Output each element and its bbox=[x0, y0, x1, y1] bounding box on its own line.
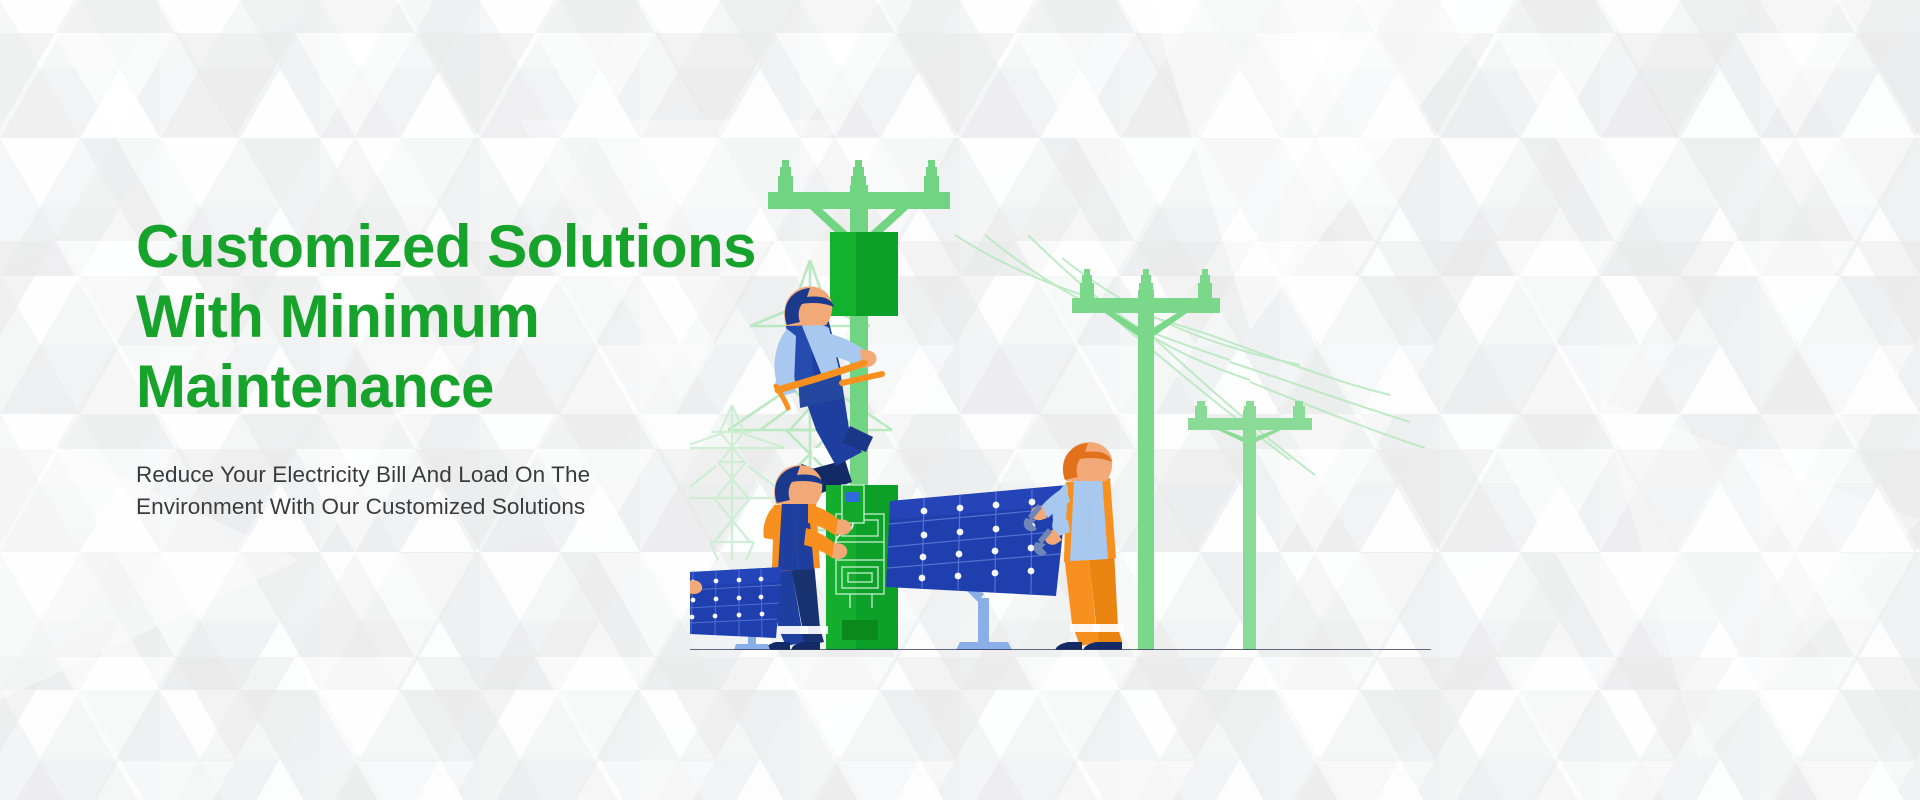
pole-transformer-box-shade bbox=[830, 232, 856, 316]
hero-banner: Customized Solutions With Minimum Mainte… bbox=[0, 0, 1920, 800]
power-lines bbox=[955, 235, 1425, 475]
worker-installing-large-panel bbox=[1024, 442, 1124, 650]
utility-pole-far-right bbox=[1188, 401, 1312, 650]
pole-insulators bbox=[778, 160, 939, 193]
solar-panel-small bbox=[690, 567, 782, 650]
solar-and-powerline-workers-illustration bbox=[690, 130, 1480, 650]
